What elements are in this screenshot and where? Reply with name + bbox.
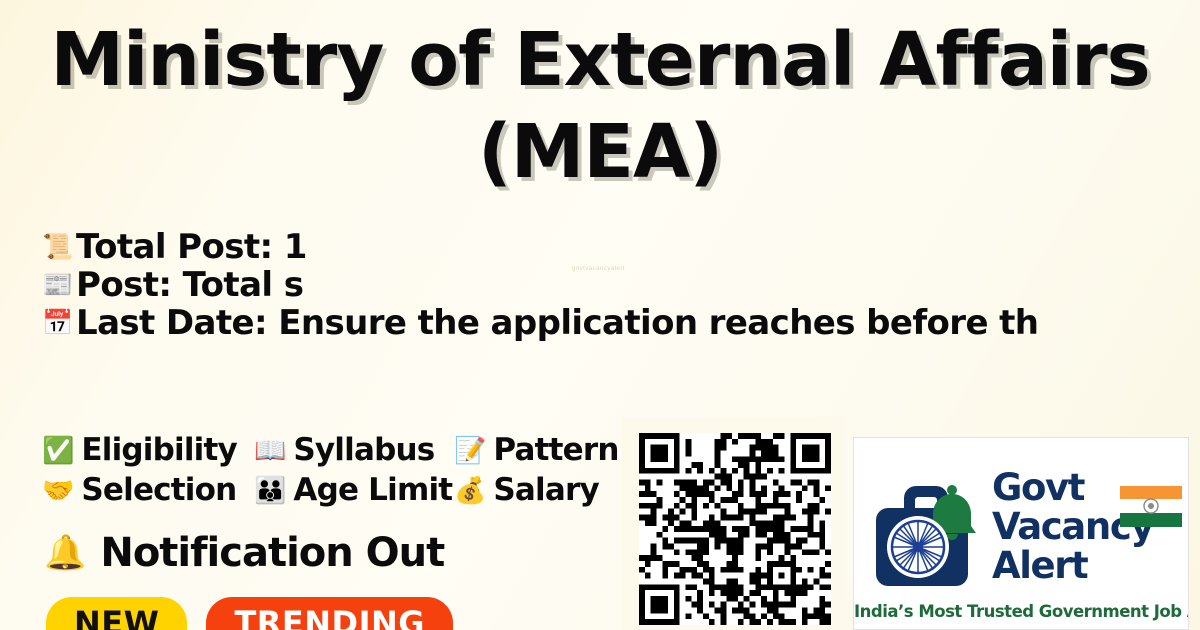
detail-text-post: Post: Total s bbox=[76, 266, 303, 304]
feature-selection[interactable]: 🤝 Selection bbox=[42, 473, 254, 507]
feature-eligibility[interactable]: ✅ Eligibility bbox=[42, 433, 254, 467]
qr-code-container[interactable] bbox=[622, 417, 844, 630]
feature-syllabus[interactable]: 📖 Syllabus bbox=[254, 433, 454, 467]
exam-paper-icon: 📝 bbox=[454, 437, 486, 463]
poster-title: Ministry of External Affairs (MEA) bbox=[0, 14, 1200, 198]
bell-notification-icon: 🔔 bbox=[44, 536, 86, 570]
detail-row-total-post: 📜 Total Post: 1 bbox=[42, 228, 1200, 266]
hand-selecting-people-icon: 🤝 bbox=[42, 477, 74, 503]
qr-code[interactable] bbox=[639, 433, 831, 625]
watermark-text: govtvacancyalert bbox=[572, 266, 625, 272]
detail-text-last-date: Last Date: Ensure the application reache… bbox=[76, 304, 1038, 342]
status-badge-trending[interactable]: TRENDING bbox=[206, 597, 453, 630]
feature-label-salary: Salary bbox=[493, 473, 599, 507]
calendar-icon: 📅 bbox=[42, 311, 76, 336]
feature-label-eligibility: Eligibility bbox=[81, 433, 237, 467]
title-line-2: (MEA) bbox=[0, 106, 1200, 198]
briefcase-chakra-bell-logo-icon bbox=[868, 468, 984, 594]
feature-label-syllabus: Syllabus bbox=[293, 433, 434, 467]
detail-row-last-date: 📅 Last Date: Ensure the application reac… bbox=[42, 304, 1200, 342]
open-book-pen-icon: 📖 bbox=[254, 437, 286, 463]
status-badge-new[interactable]: NEW bbox=[46, 597, 187, 630]
certificate-search-icon: 📜 bbox=[42, 235, 76, 260]
badge-group: NEW TRENDING bbox=[46, 597, 453, 630]
detail-text-total-post: Total Post: 1 bbox=[76, 228, 307, 266]
notification-text: Notification Out bbox=[100, 528, 444, 578]
brand-tagline: India’s Most Trusted Government Job Aler… bbox=[854, 602, 1189, 621]
title-line-1: Ministry of External Affairs bbox=[0, 14, 1200, 106]
poster-canvas: Ministry of External Affairs (MEA) 📜 Tot… bbox=[0, 0, 1200, 630]
feature-age-limit[interactable]: 👪 Age Limit bbox=[254, 473, 454, 507]
money-bag-hand-icon: 💰 bbox=[454, 477, 486, 503]
check-mark-icon: ✅ bbox=[42, 437, 74, 463]
india-flag-icon bbox=[1120, 486, 1182, 527]
news-megaphone-icon: 📰 bbox=[42, 273, 76, 298]
feature-label-selection: Selection bbox=[81, 473, 236, 507]
brand-line-3: Alert bbox=[992, 546, 1153, 585]
detail-list: 📜 Total Post: 1 📰 Post: Total s 📅 Last D… bbox=[42, 228, 1200, 342]
logo-lockup: Govt Vacancy Alert bbox=[868, 468, 1153, 594]
feature-label-age-limit: Age Limit bbox=[293, 473, 452, 507]
notification-banner: 🔔 Notification Out bbox=[44, 528, 444, 578]
feature-label-pattern: Pattern bbox=[493, 433, 618, 467]
brand-logo-card: Govt Vacancy Alert India’s Most Trusted … bbox=[853, 437, 1189, 630]
family-group-icon: 👪 bbox=[254, 477, 286, 503]
